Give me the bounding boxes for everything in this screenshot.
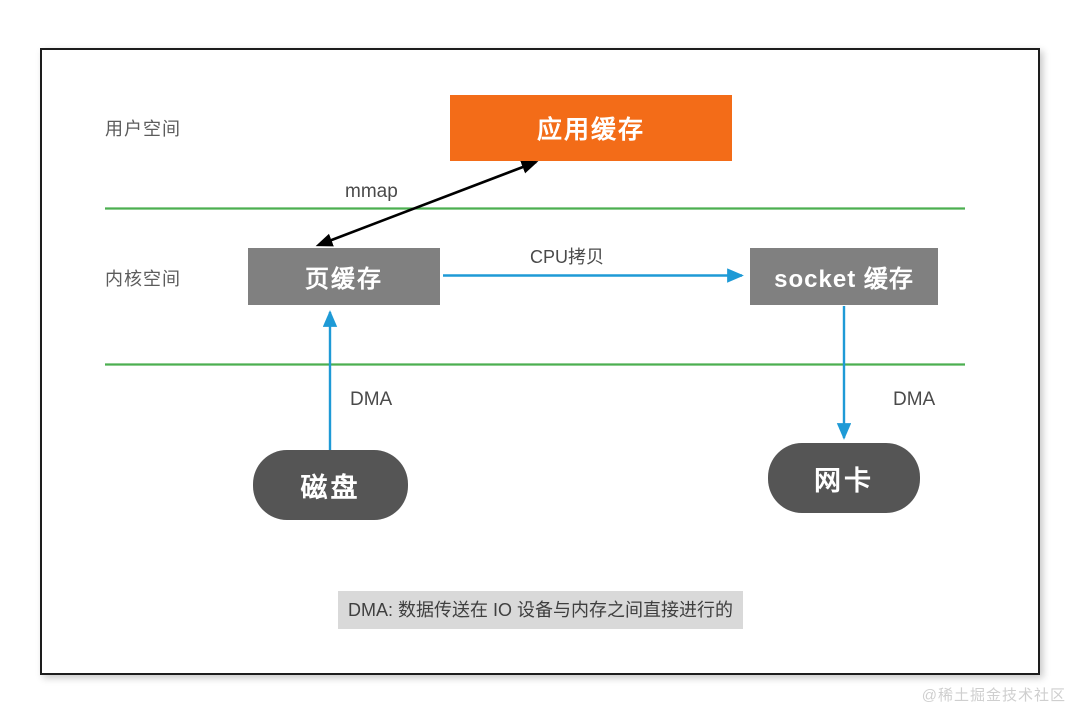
node-page-cache[interactable]: 页缓存 xyxy=(248,248,440,305)
watermark: @稀土掘金技术社区 xyxy=(922,684,1066,705)
edge-label-dma-write: DMA xyxy=(893,389,935,411)
zone-label-user-space: 用户空间 xyxy=(105,115,181,141)
caption-dma-definition: DMA: 数据传送在 IO 设备与内存之间直接进行的 xyxy=(338,591,743,629)
edge-label-mmap: mmap xyxy=(345,181,398,203)
zone-label-kernel-space: 内核空间 xyxy=(105,265,181,291)
node-network-card[interactable]: 网卡 xyxy=(768,443,920,513)
edge-label-cpu-copy: CPU拷贝 xyxy=(530,243,604,269)
diagram-stage: 用户空间 内核空间 应用缓存 页缓存 socket 缓存 磁盘 网卡 mmap … xyxy=(0,0,1080,715)
edge-label-dma-read: DMA xyxy=(350,389,392,411)
node-disk[interactable]: 磁盘 xyxy=(253,450,408,520)
node-socket-buffer[interactable]: socket 缓存 xyxy=(750,248,938,305)
node-application-buffer[interactable]: 应用缓存 xyxy=(450,95,732,161)
